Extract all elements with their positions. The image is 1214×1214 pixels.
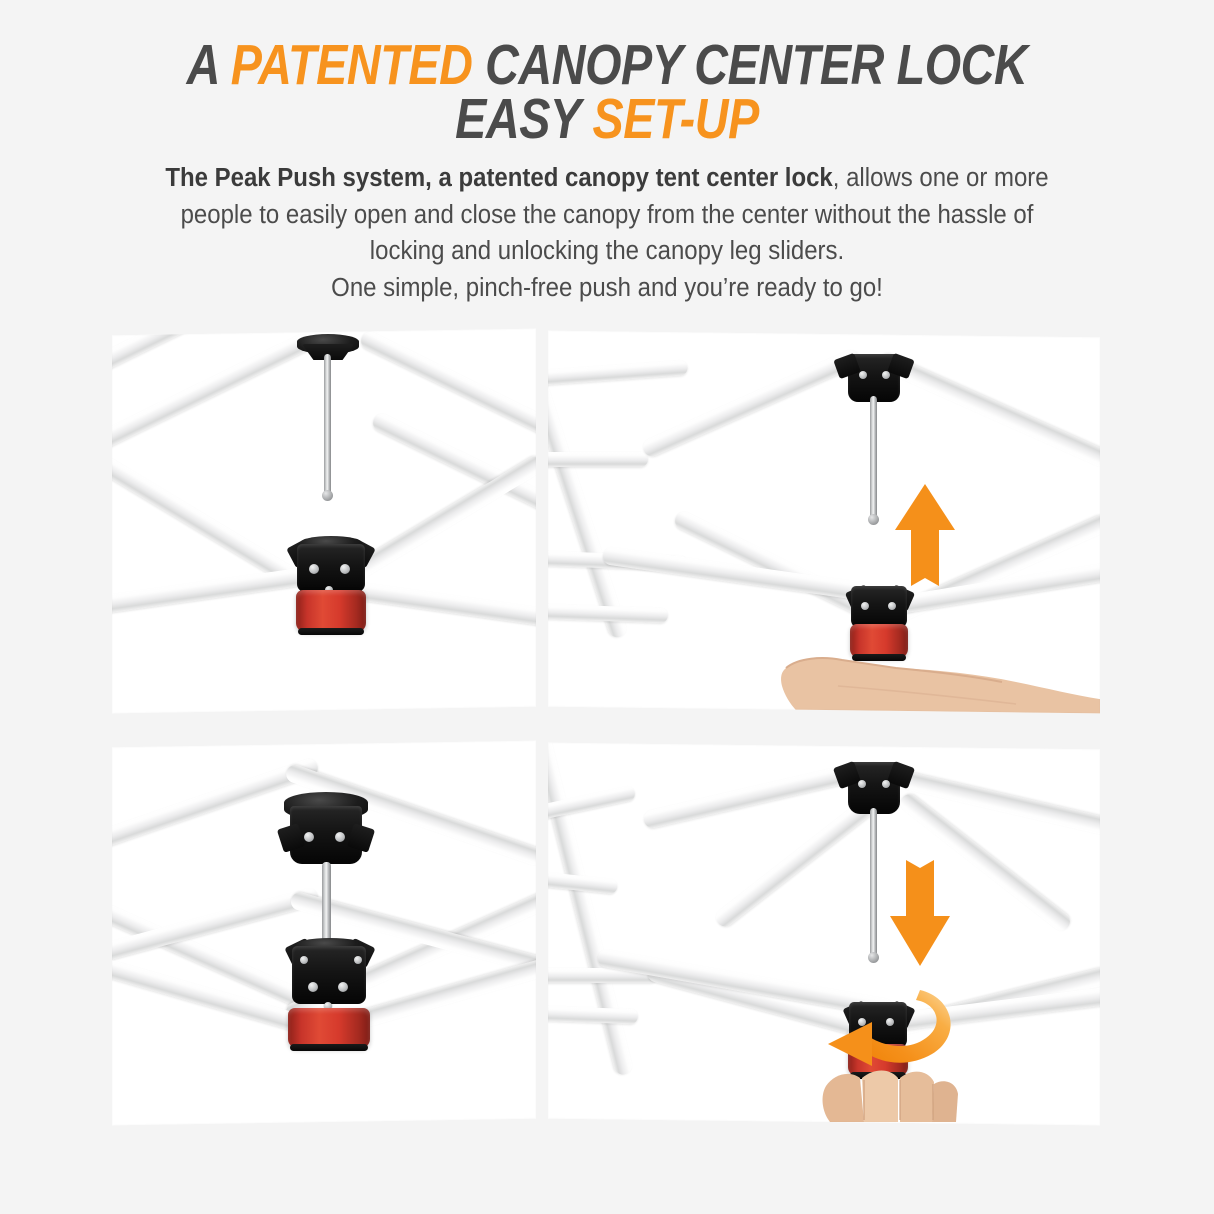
panel-push-up-photo	[548, 334, 1100, 710]
center-lock-rod	[870, 396, 877, 520]
center-lock-rod	[322, 862, 331, 946]
description-paragraph: The Peak Push system, a patented canopy …	[106, 160, 1108, 306]
headline-text-c: EASY	[455, 87, 592, 151]
hub-screw	[882, 780, 890, 788]
canopy-tube	[112, 331, 314, 479]
description-bold-lead: The Peak Push system, a patented canopy …	[165, 164, 832, 192]
infographic-page: A PATENTED CANOPY CENTER LOCK EASY SET-U…	[0, 0, 1214, 1214]
canopy-tube	[548, 1004, 638, 1024]
headline-line-2: EASY SET-UP	[109, 92, 1104, 146]
canopy-tube	[548, 360, 688, 389]
panel-closed-position-photo	[112, 744, 536, 1122]
photo-grid	[0, 332, 1214, 1144]
center-lock-rod	[324, 354, 331, 496]
canopy-tube	[548, 452, 648, 467]
canopy-tube	[358, 329, 536, 459]
description-line2: people to easily open and close the cano…	[181, 201, 1034, 229]
center-lock-rod	[870, 808, 877, 958]
hub-screw	[335, 832, 345, 842]
center-hub-body	[292, 946, 366, 1004]
hub-screw	[861, 602, 869, 610]
arrow-up-icon	[893, 482, 957, 594]
panel-open-position-photo	[112, 332, 536, 710]
panel-pull-down-rotate-photo	[548, 746, 1100, 1122]
rotate-arrow-icon	[816, 984, 966, 1080]
hub-screw	[882, 371, 890, 379]
panel-open-position	[112, 329, 536, 714]
hub-screw	[859, 371, 867, 379]
headline-line-1: A PATENTED CANOPY CENTER LOCK	[109, 38, 1104, 92]
rod-tip	[868, 514, 879, 525]
hub-screw	[338, 982, 348, 992]
hub-screw	[354, 956, 362, 964]
hub-screw	[340, 564, 350, 574]
hub-screw	[858, 780, 866, 788]
description-line3: locking and unlocking the canopy leg sli…	[370, 237, 844, 265]
rod-tip	[322, 490, 333, 501]
open-palm-hand	[778, 642, 1100, 713]
headline-highlight-setup: SET-UP	[593, 87, 759, 151]
hub-screw	[304, 832, 314, 842]
collar-bottom-rim	[290, 1044, 368, 1051]
description-line4: One simple, pinch-free push and you’re r…	[331, 274, 883, 302]
panel-pull-down-rotate	[548, 743, 1100, 1126]
panel-closed-position	[112, 741, 536, 1126]
headline-text-a: A	[187, 33, 231, 97]
description-rest-line1: , allows one or more	[833, 164, 1049, 192]
canopy-tube	[357, 582, 536, 635]
canopy-tube	[112, 449, 302, 588]
rod-tip	[868, 952, 879, 963]
hub-screw	[888, 602, 896, 610]
hub-screw	[308, 982, 318, 992]
headline-highlight-patented: PATENTED	[231, 33, 473, 97]
hub-screw	[309, 564, 319, 574]
red-center-lock-collar	[288, 1008, 370, 1048]
page-title: A PATENTED CANOPY CENTER LOCK EASY SET-U…	[109, 38, 1104, 146]
panel-push-up	[548, 331, 1100, 714]
arrow-down-icon	[888, 850, 952, 968]
collar-bottom-rim	[298, 628, 364, 635]
red-center-lock-collar	[296, 590, 366, 632]
center-hub-body	[297, 544, 365, 592]
hub-screw	[300, 956, 308, 964]
